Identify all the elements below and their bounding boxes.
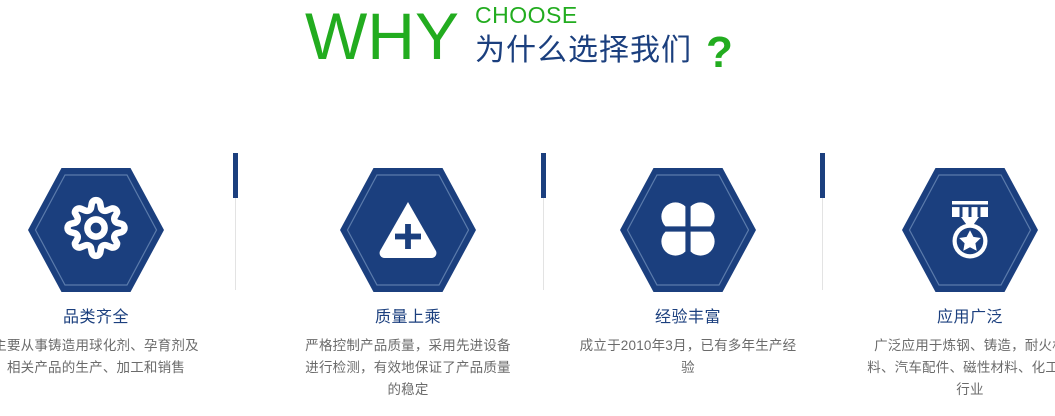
heading-choose: CHOOSE xyxy=(475,3,733,28)
medal-icon xyxy=(901,167,1039,293)
feature-column-4: 应用广泛 广泛应用于炼钢、铸造，耐火材料、汽车配件、磁性材料、化工等行业 xyxy=(855,150,1055,401)
feature-title-1: 品类齐全 xyxy=(0,307,211,329)
header-text-group: WHY CHOOSE 为什么选择我们 ? xyxy=(305,0,733,72)
feature-columns: 品类齐全 主要从事铸造用球化剂、孕育剂及相关产品的生产、加工和销售 质量上乘 严… xyxy=(0,150,1055,416)
feature-body-2: 严格控制产品质量，采用先进设备进行检测，有效地保证了产品质量的稳定 xyxy=(293,335,523,401)
feature-title-4: 应用广泛 xyxy=(855,307,1055,329)
clover-icon xyxy=(619,167,757,293)
heading-why: WHY xyxy=(305,0,459,72)
feature-body-3: 成立于2010年3月，已有多年生产经验 xyxy=(573,335,803,379)
feature-body-1: 主要从事铸造用球化剂、孕育剂及相关产品的生产、加工和销售 xyxy=(0,335,211,379)
heading-cn-title: 为什么选择我们 xyxy=(475,33,692,69)
heading-cn-line: 为什么选择我们 ? xyxy=(475,31,733,71)
hexagon-badge-1 xyxy=(27,167,165,293)
gear-icon xyxy=(27,167,165,293)
heading-right-group: CHOOSE 为什么选择我们 ? xyxy=(475,0,733,71)
feature-body-4: 广泛应用于炼钢、铸造，耐火材料、汽车配件、磁性材料、化工等行业 xyxy=(855,335,1055,401)
hexagon-badge-4 xyxy=(901,167,1039,293)
feature-title-3: 经验丰富 xyxy=(573,307,803,329)
hexagon-badge-3 xyxy=(619,167,757,293)
heading-question-mark: ? xyxy=(706,33,733,73)
triangle-plus-icon xyxy=(339,167,477,293)
feature-column-1: 品类齐全 主要从事铸造用球化剂、孕育剂及相关产品的生产、加工和销售 xyxy=(0,150,211,379)
feature-title-2: 质量上乘 xyxy=(293,307,523,329)
page-header: WHY CHOOSE 为什么选择我们 ? xyxy=(0,0,1055,95)
feature-column-2: 质量上乘 严格控制产品质量，采用先进设备进行检测，有效地保证了产品质量的稳定 xyxy=(293,150,523,401)
hexagon-badge-2 xyxy=(339,167,477,293)
feature-column-3: 经验丰富 成立于2010年3月，已有多年生产经验 xyxy=(573,150,803,379)
